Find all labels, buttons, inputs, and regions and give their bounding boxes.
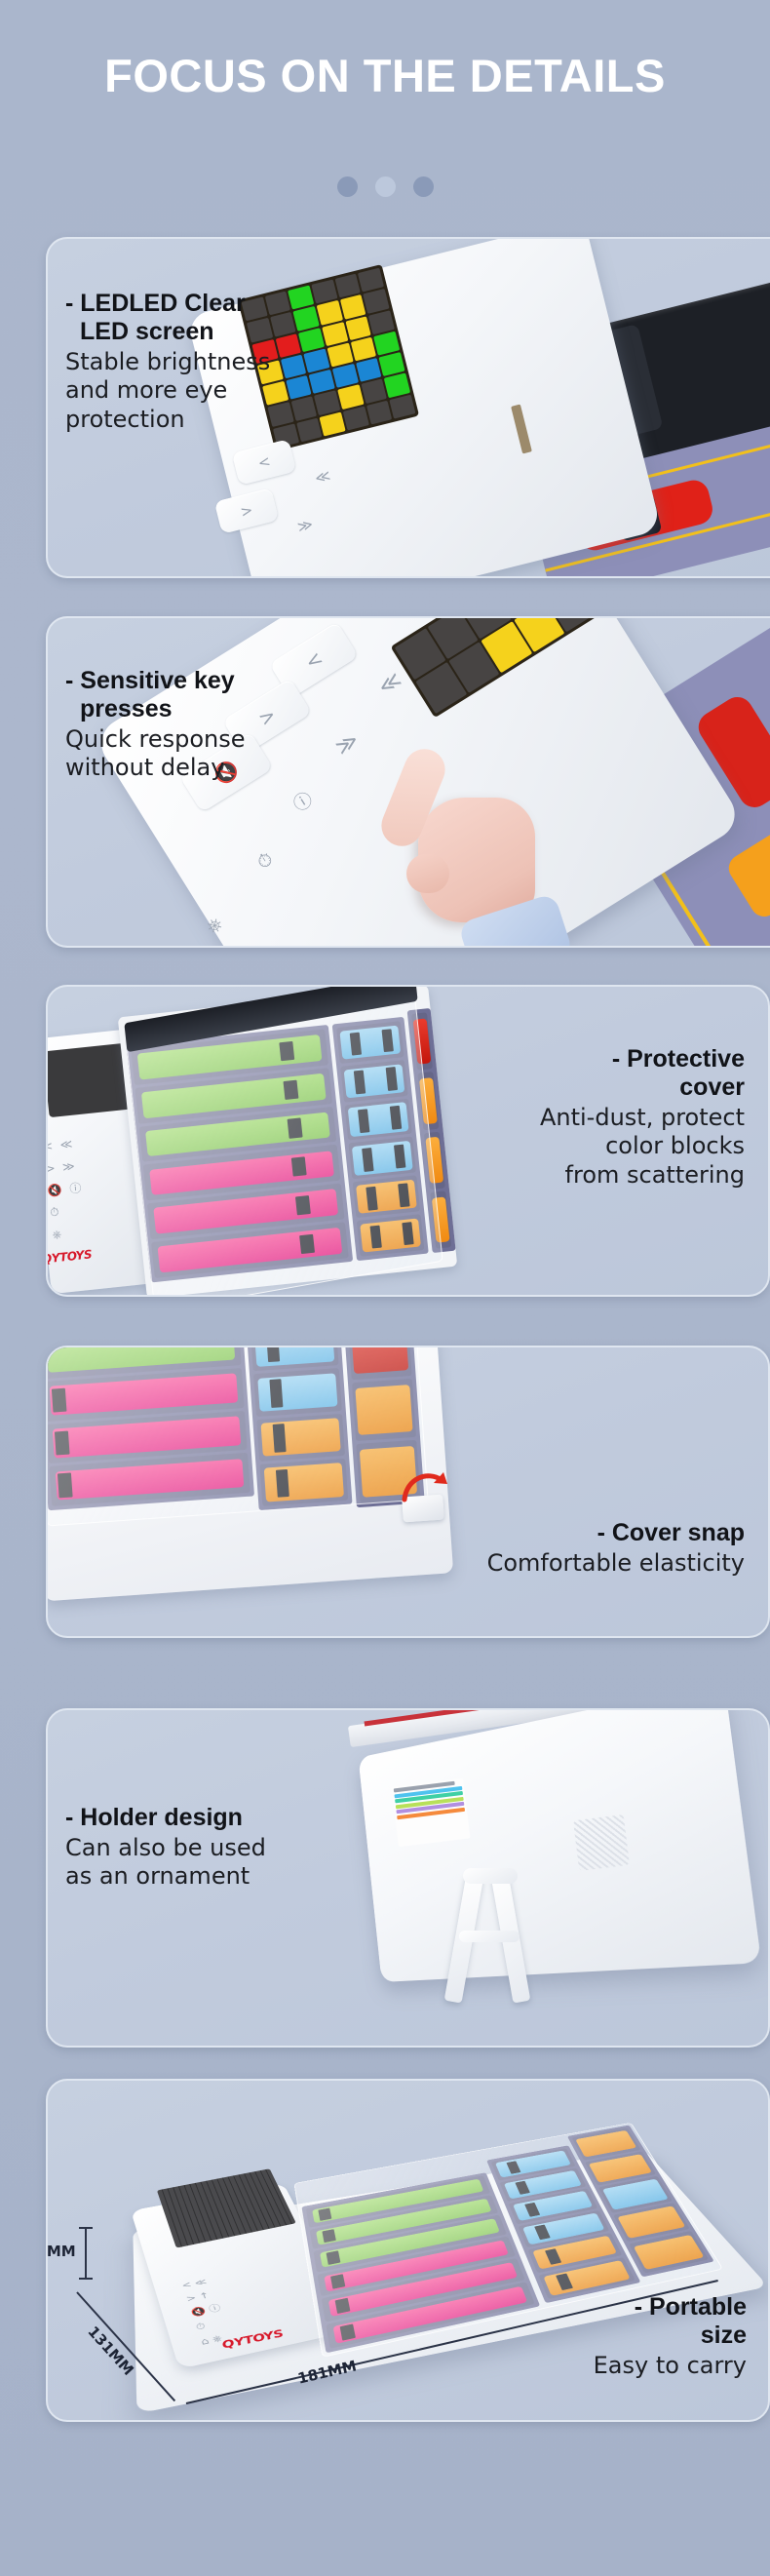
led-screen-text: - LEDLED Clear LED screen Stable brightn… bbox=[65, 290, 309, 434]
page-title: FOCUS ON THE DETAILS bbox=[0, 49, 770, 102]
sensitive-keys-heading-line1: - Sensitive key bbox=[65, 667, 309, 695]
feature-card-holder-design[interactable]: - Holder design Can also be used as an o… bbox=[46, 1708, 770, 2048]
carousel-dot-1[interactable] bbox=[337, 176, 358, 197]
info-icon[interactable]: ⓘ bbox=[69, 1181, 82, 1195]
hero-header: FOCUS ON THE DETAILS bbox=[0, 0, 770, 226]
protective-cover-heading-line2: cover bbox=[462, 1073, 745, 1102]
sensitive-keys-body-line2: without delay bbox=[65, 754, 309, 782]
led-screen-body-line3: protection bbox=[65, 406, 309, 434]
sensitive-keys-text: - Sensitive key presses Quick response w… bbox=[65, 667, 309, 783]
key-right-icon[interactable]: > bbox=[185, 2293, 198, 2304]
dim-height-tick-bottom bbox=[79, 2278, 93, 2280]
led-screen-body-line1: Stable brightness bbox=[65, 348, 309, 376]
info-icon[interactable]: ⓘ bbox=[208, 2303, 222, 2315]
feature-card-sensitive-keys[interactable]: < ≪ > ≫ 🔇 ⓘ ⏱ ⎈ - Sensitive key presses … bbox=[46, 616, 770, 948]
cover-snap-text: - Cover snap Comfortable elasticity bbox=[423, 1519, 745, 1578]
snap-direction-arrow-icon bbox=[399, 1466, 451, 1511]
cover-snap-body-line1: Comfortable elasticity bbox=[423, 1549, 745, 1578]
feature-card-cover-snap[interactable]: - Cover snap Comfortable elasticity bbox=[46, 1346, 770, 1638]
dim-height-tick-top bbox=[79, 2227, 93, 2229]
feature-card-portable-size[interactable]: < ≪ > ↑ 🔇 ⓘ ⏱ ⌂ ⎈ QYTOYS bbox=[46, 2079, 770, 2422]
kickstand-brace bbox=[459, 1931, 520, 1942]
carousel-dot-2[interactable] bbox=[375, 176, 396, 197]
mute-icon[interactable]: 🔇 bbox=[47, 1183, 62, 1197]
cover-snap-heading-line1: - Cover snap bbox=[423, 1519, 745, 1547]
power-icon[interactable]: ⎈ bbox=[52, 1228, 62, 1242]
led-screen-body-line2: and more eye bbox=[65, 376, 309, 405]
sensitive-keys-body-line1: Quick response bbox=[65, 725, 309, 754]
key-fast-left-icon[interactable]: ≪ bbox=[193, 2277, 208, 2287]
key-left-icon[interactable]: < bbox=[180, 2280, 193, 2290]
protective-cover-product-image: < ≪ > ≫ 🔇 ⓘ ⏱ ⎈ QYTOYS bbox=[46, 985, 477, 1297]
holder-design-heading-line1: - Holder design bbox=[65, 1804, 319, 1832]
pointing-hand bbox=[350, 735, 555, 948]
feature-card-protective-cover[interactable]: < ≪ > ≫ 🔇 ⓘ ⏱ ⎈ QYTOYS bbox=[46, 985, 770, 1297]
carousel-dots bbox=[0, 176, 770, 197]
kickstand-hinge bbox=[463, 1868, 518, 1884]
cover-snap-product-image bbox=[46, 1346, 465, 1636]
protective-cover-body-line1: Anti-dust, protect bbox=[462, 1104, 745, 1132]
key-fast-left-icon[interactable]: ≪ bbox=[59, 1137, 73, 1151]
feature-card-led-screen[interactable]: < ≪ > ≫ - LEDLED Clear LED screen Stable… bbox=[46, 237, 770, 578]
timer-icon[interactable]: ⏱ bbox=[194, 2321, 207, 2332]
protective-cover-body-line2: color blocks bbox=[462, 1132, 745, 1160]
holder-design-product-image bbox=[330, 1708, 770, 2032]
holder-design-body-line1: Can also be used bbox=[65, 1834, 319, 1862]
led-screen-heading-line2: LED screen bbox=[65, 318, 309, 346]
holder-design-body-line2: as an ornament bbox=[65, 1862, 319, 1891]
portable-size-heading-line2: size bbox=[454, 2322, 747, 2350]
sensitive-keys-heading-line2: presses bbox=[65, 695, 309, 723]
protective-cover-heading-line1: - Protective bbox=[462, 1045, 745, 1073]
dim-height-label: 27MM bbox=[46, 2243, 76, 2260]
key-right-icon[interactable]: > bbox=[46, 1161, 56, 1176]
led-screen-product-image: < ≪ > ≫ bbox=[243, 237, 770, 578]
protective-cover-text: - Protective cover Anti-dust, protect co… bbox=[462, 1045, 745, 1190]
speaker-grille bbox=[573, 1815, 630, 1871]
spec-label bbox=[391, 1778, 470, 1848]
timer-icon[interactable]: ⏱ bbox=[50, 1205, 60, 1220]
carousel-dot-3[interactable] bbox=[413, 176, 434, 197]
key-up-icon[interactable]: ↑ bbox=[198, 2290, 211, 2301]
protective-cover-body-line3: from scattering bbox=[462, 1161, 745, 1190]
holder-design-text: - Holder design Can also be used as an o… bbox=[65, 1804, 319, 1892]
key-left-icon[interactable]: < bbox=[46, 1139, 54, 1153]
led-screen-heading-line1: - LEDLED Clear bbox=[65, 290, 309, 318]
key-fast-right-icon[interactable]: ≫ bbox=[61, 1159, 75, 1174]
portable-size-body-line1: Easy to carry bbox=[454, 2352, 747, 2380]
dim-height-line bbox=[85, 2227, 87, 2280]
mute-icon[interactable]: 🔇 bbox=[189, 2306, 207, 2318]
